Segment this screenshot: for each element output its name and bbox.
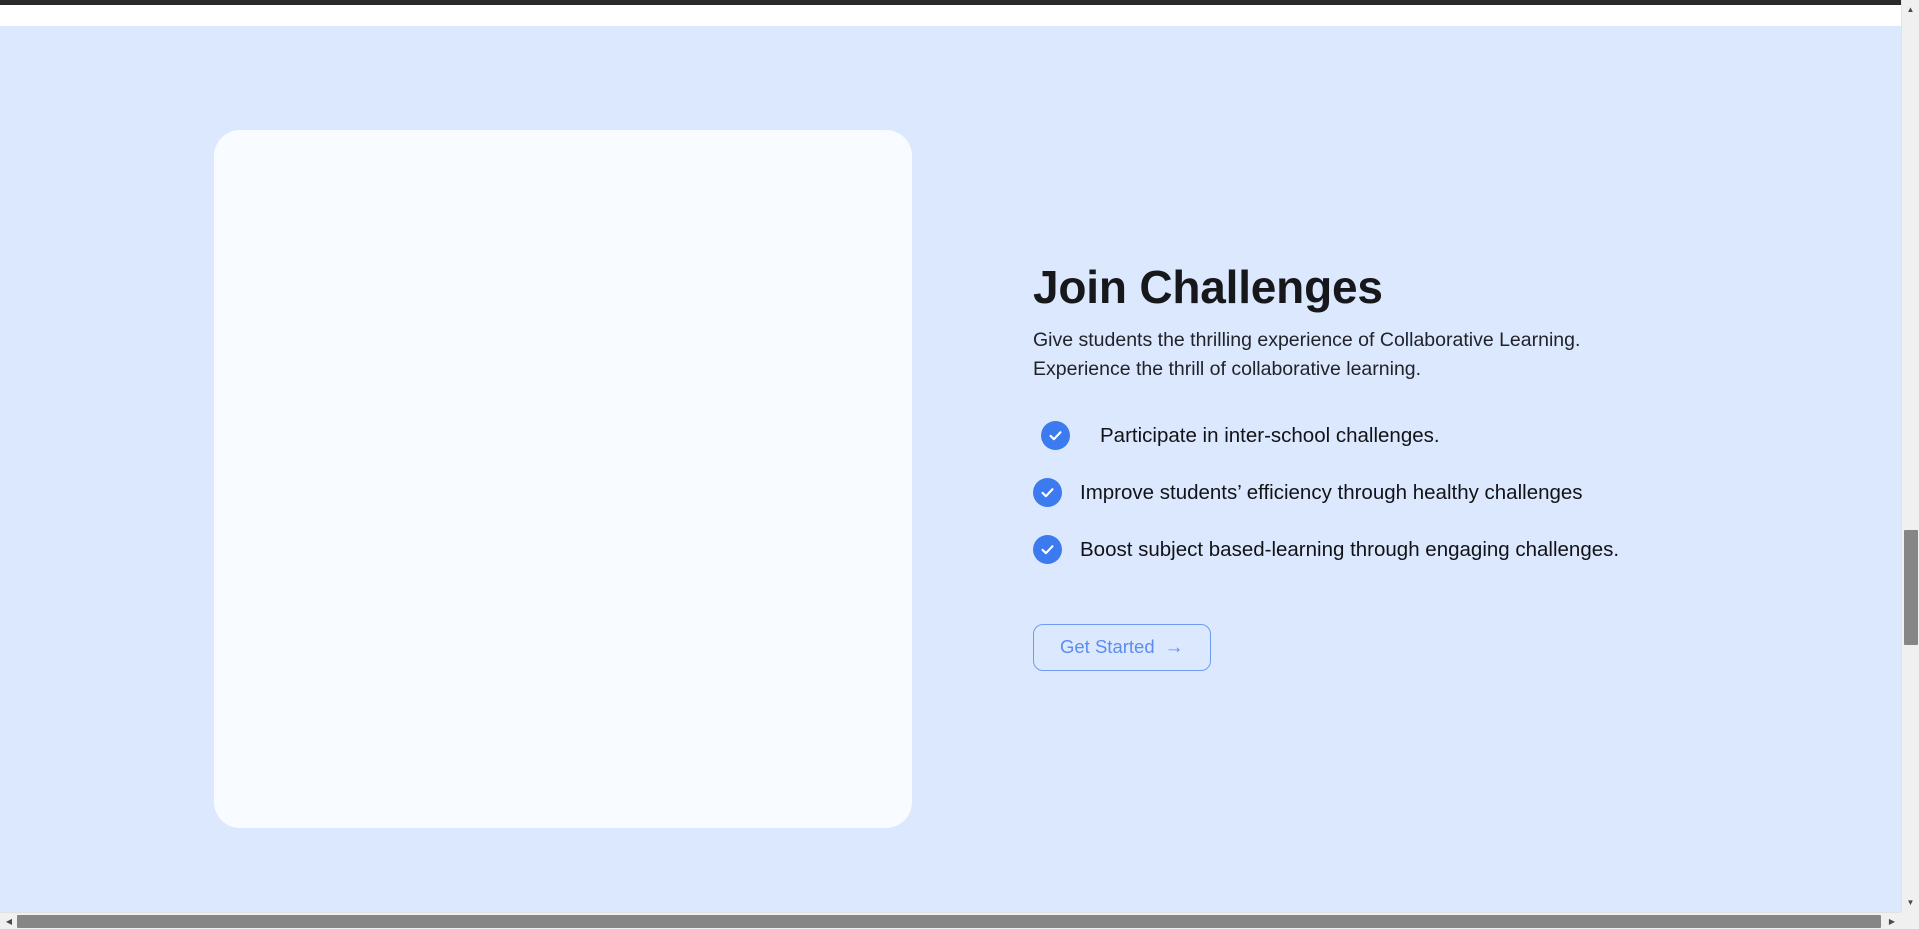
check-circle-icon: [1033, 478, 1062, 507]
check-circle-icon: [1033, 535, 1062, 564]
feature-label: Boost subject based-learning through eng…: [1080, 535, 1619, 564]
scroll-right-arrow-icon[interactable]: ▶: [1884, 913, 1900, 929]
scroll-left-arrow-icon[interactable]: ◀: [1, 913, 17, 929]
feature-label: Improve students’ efficiency through hea…: [1080, 478, 1583, 507]
scroll-down-arrow-icon[interactable]: ▼: [1902, 894, 1919, 911]
page-top-white-strip: [0, 5, 1919, 26]
hero-media-card: [214, 130, 912, 828]
hero-description: Give students the thrilling experience o…: [1033, 326, 1603, 385]
check-circle-icon: [1041, 421, 1070, 450]
arrow-right-icon: →: [1165, 638, 1184, 657]
vertical-scrollbar[interactable]: ▲ ▼: [1901, 0, 1919, 912]
list-item: Boost subject based-learning through eng…: [1033, 535, 1653, 564]
horizontal-scrollbar-thumb[interactable]: [17, 915, 1881, 928]
feature-list: Participate in inter-school challenges. …: [1033, 421, 1733, 564]
browser-viewport: Join Challenges Give students the thrill…: [0, 0, 1919, 929]
join-challenges-hero-section: Join Challenges Give students the thrill…: [0, 26, 1901, 912]
scroll-up-arrow-icon[interactable]: ▲: [1902, 1, 1919, 18]
page-title: Join Challenges: [1033, 262, 1733, 314]
scrollbar-corner: [1901, 912, 1919, 929]
feature-label: Participate in inter-school challenges.: [1088, 421, 1440, 450]
horizontal-scrollbar[interactable]: ◀ ▶: [0, 912, 1919, 929]
list-item: Improve students’ efficiency through hea…: [1033, 478, 1653, 507]
get-started-label: Get Started: [1060, 638, 1155, 657]
list-item: Participate in inter-school challenges.: [1033, 421, 1653, 450]
vertical-scrollbar-thumb[interactable]: [1904, 530, 1918, 645]
hero-content-column: Join Challenges Give students the thrill…: [1033, 262, 1733, 671]
get-started-button[interactable]: Get Started →: [1033, 624, 1211, 671]
